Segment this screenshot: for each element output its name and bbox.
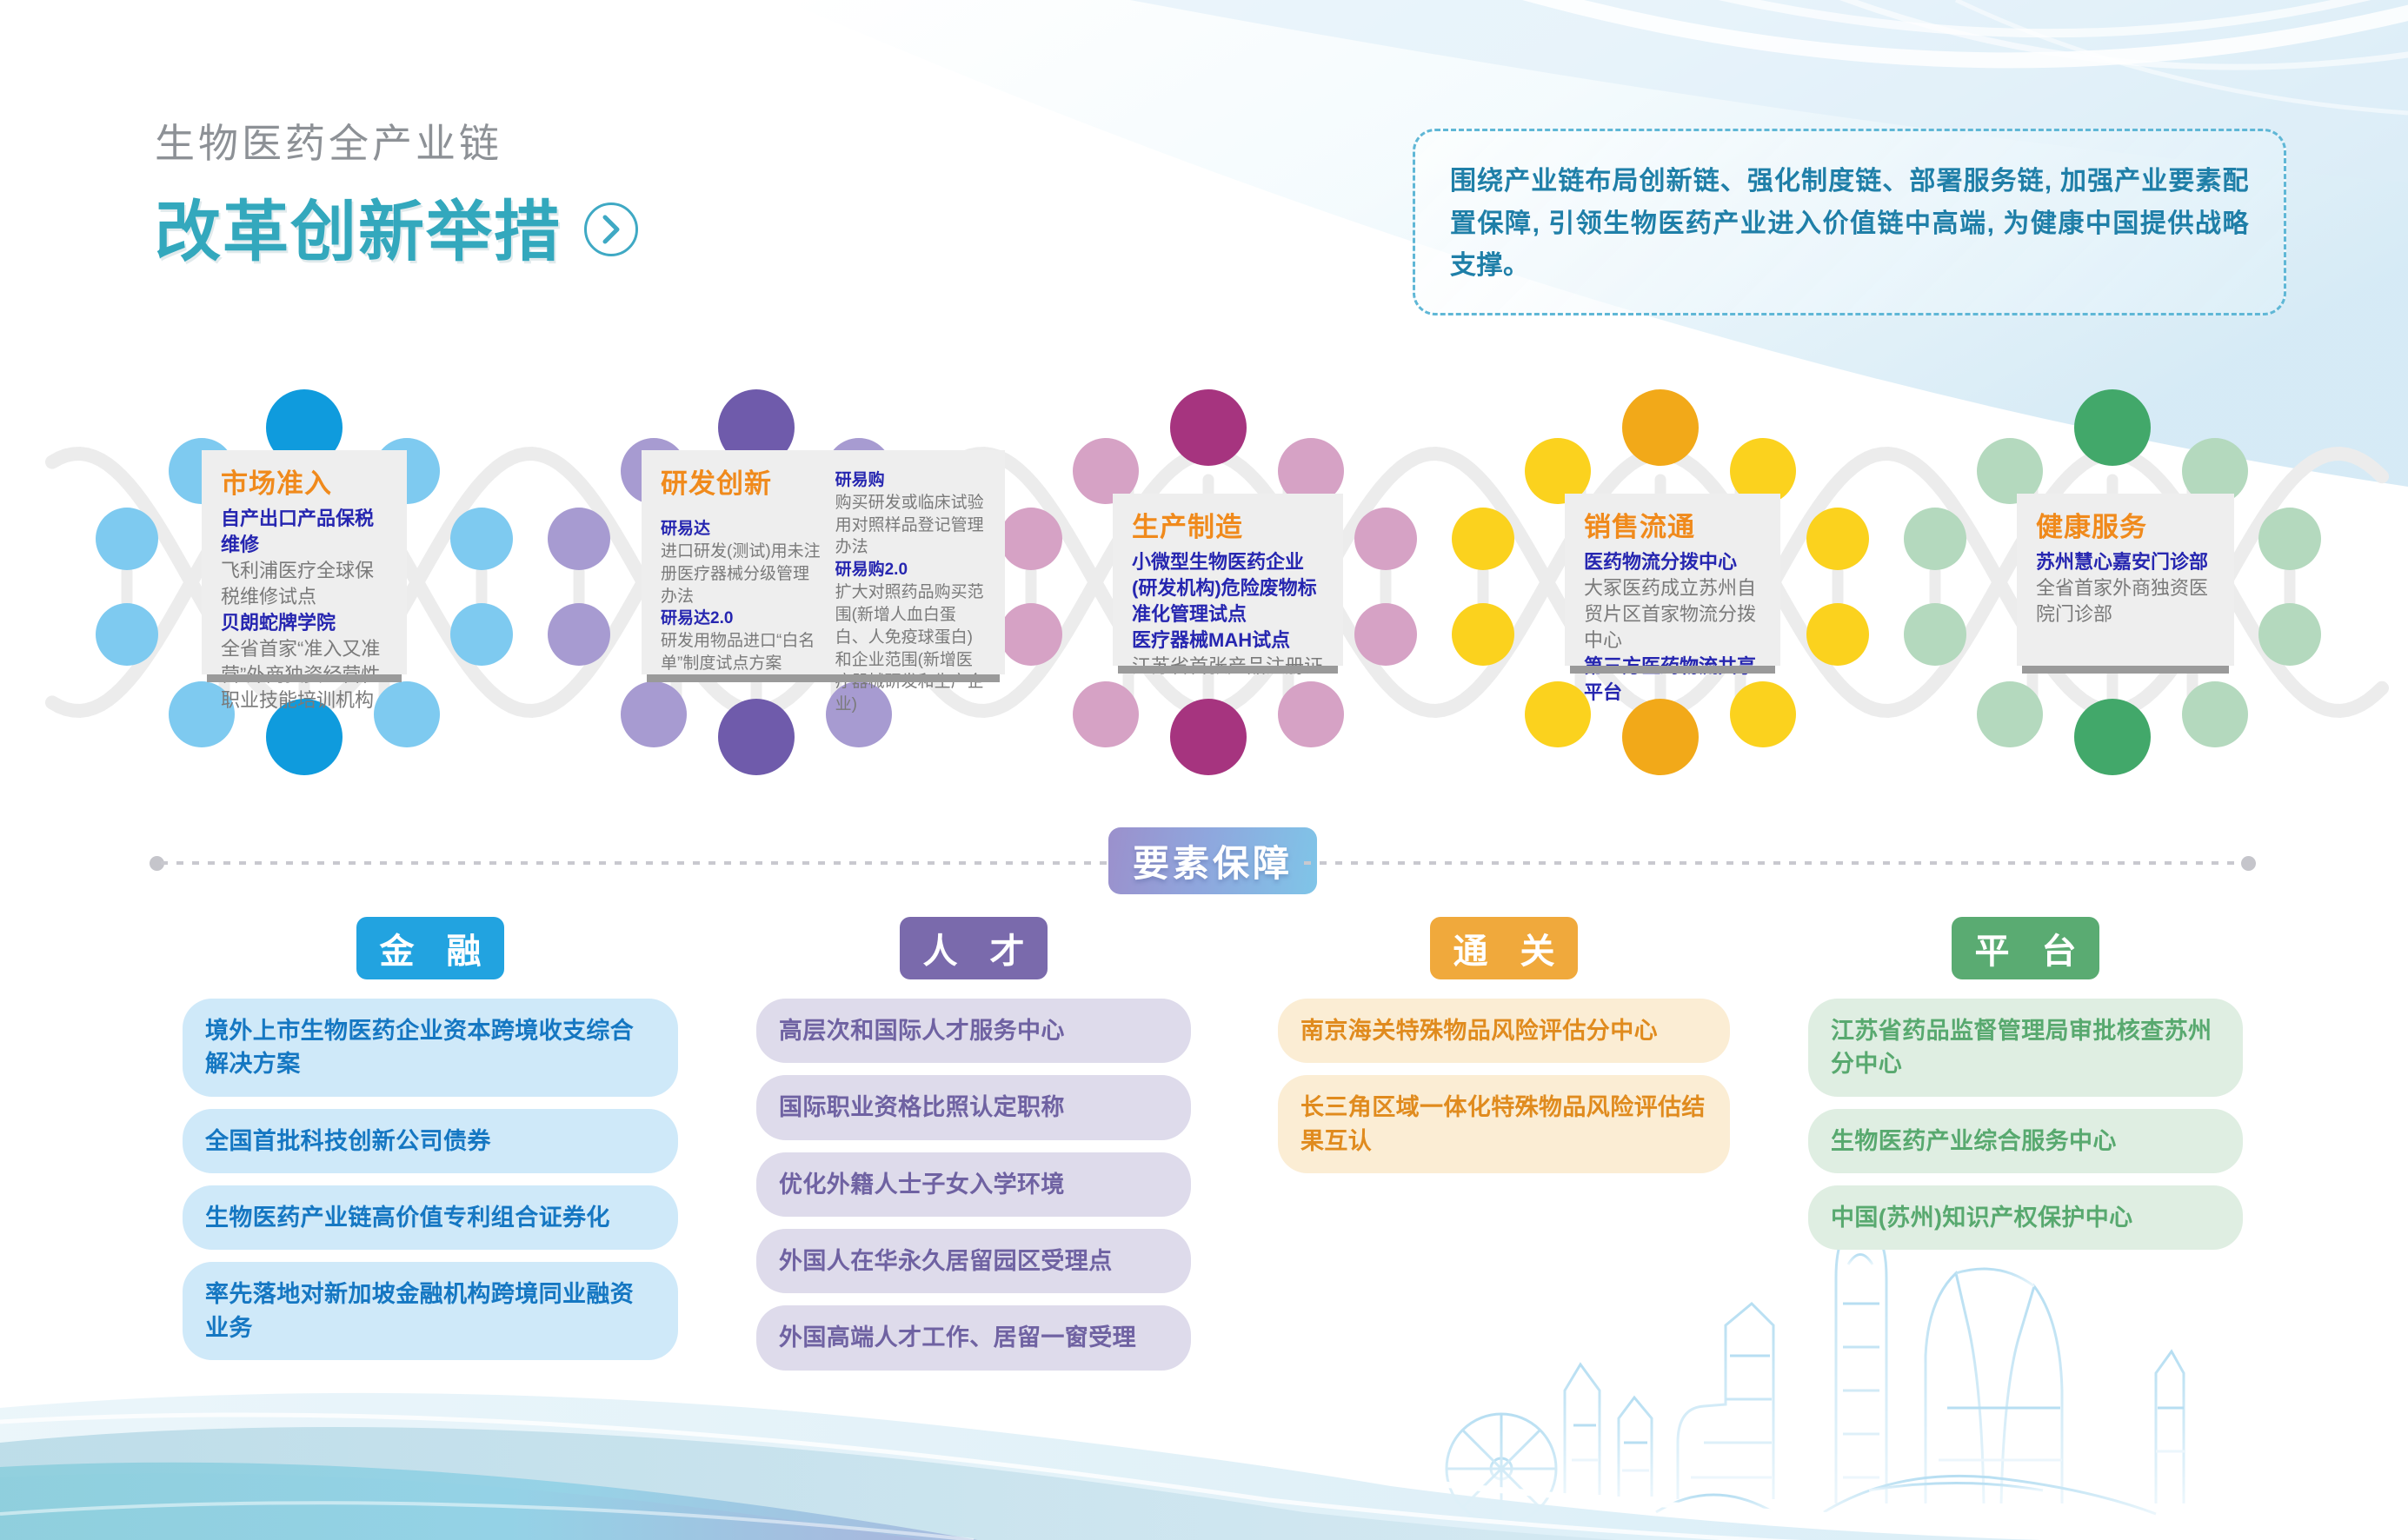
- list-item[interactable]: 境外上市生物医药企业资本跨境收支综合解决方案: [183, 999, 678, 1097]
- card-note-1: 全省首家外商独资医院门诊部: [2036, 575, 2217, 627]
- card-bold-2: 贝朗蛇牌学院: [221, 610, 389, 636]
- support-column-platform: 平 台 江苏省药品监督管理局审批核查苏州分中心 生物医药产业综合服务中心 中国(…: [1808, 917, 2243, 1262]
- chain-card-rd-innovation[interactable]: 研发创新 研易达 进口研发(测试)用未注册医疗器械分级管理办法 研易达2.0 研…: [642, 450, 1005, 674]
- list-item[interactable]: 全国首批科技创新公司债券: [183, 1109, 678, 1173]
- page-header: 生物医药全产业链 改革创新举措: [155, 122, 638, 274]
- card-title: 健康服务: [2036, 513, 2217, 542]
- chevron-right-icon[interactable]: [584, 202, 638, 256]
- card-bold-2: 研易达2.0: [661, 607, 822, 630]
- support-column-talent: 人 才 高层次和国际人才服务中心 国际职业资格比照认定职称 优化外籍人士子女入学…: [756, 917, 1191, 1383]
- card-note-1: 进口研发(测试)用未注册医疗器械分级管理办法: [661, 541, 822, 607]
- intro-callout: 围绕产业链布局创新链、强化制度链、部署服务链, 加强产业要素配置保障, 引领生物…: [1413, 129, 2286, 315]
- column-label: 金 融: [368, 923, 492, 973]
- column-label: 平 台: [1963, 923, 2087, 973]
- list-item[interactable]: 中国(苏州)知识产权保护中心: [1808, 1185, 2243, 1250]
- list-item[interactable]: 优化外籍人士子女入学环境: [756, 1152, 1191, 1217]
- support-column-customs: 通 关 南京海关特殊物品风险评估分中心 长三角区域一体化特殊物品风险评估结果互认: [1278, 917, 1730, 1185]
- card-base-bar: [1118, 666, 1338, 674]
- card-title: 研发创新: [661, 469, 822, 499]
- card-note-1: 飞利浦医疗全球保税维修试点: [221, 558, 389, 610]
- chain-card-distribution[interactable]: 销售流通 医药物流分拨中心 大冢医药成立苏州自贸片区首家物流分拨中心 第三方医药…: [1565, 494, 1780, 666]
- chain-card-market-access[interactable]: 市场准入 自产出口产品保税维修 飞利浦医疗全球保税维修试点 贝朗蛇牌学院 全省首…: [202, 450, 407, 674]
- list-item[interactable]: 江苏省药品监督管理局审批核查苏州分中心: [1808, 999, 2243, 1097]
- card-bold-1: 苏州慧心嘉安门诊部: [2036, 549, 2217, 575]
- support-column-finance: 金 融 境外上市生物医药企业资本跨境收支综合解决方案 全国首批科技创新公司债券 …: [183, 917, 678, 1372]
- card-base-bar: [1570, 666, 1775, 674]
- column-label: 通 关: [1441, 923, 1566, 973]
- card-note-2: 研发用物品进口“白名单”制度试点方案: [661, 630, 822, 675]
- card-base-bar: [647, 674, 1000, 682]
- banner-dotted-line-right: [1304, 861, 2252, 865]
- column-cap-talent: 人 才: [900, 917, 1048, 979]
- list-item[interactable]: 高层次和国际人才服务中心: [756, 999, 1191, 1063]
- card-bold-1: 小微型生物医药企业(研发机构)危险废物标准化管理试点: [1132, 549, 1326, 627]
- column-cap-customs: 通 关: [1430, 917, 1578, 979]
- column-cap-finance: 金 融: [356, 917, 504, 979]
- card-title: 销售流通: [1584, 513, 1763, 542]
- card-bold-1: 医药物流分拨中心: [1584, 549, 1763, 575]
- card-bold-2: 第三方医药物流共享平台: [1584, 654, 1763, 706]
- card-bold-2: 医疗器械MAH试点: [1132, 627, 1326, 654]
- intro-text: 围绕产业链布局创新链、强化制度链、部署服务链, 加强产业要素配置保障, 引领生物…: [1450, 161, 2249, 288]
- card-bold-4: 研易购2.0: [835, 559, 988, 581]
- chain-card-manufacturing[interactable]: 生产制造 小微型生物医药企业(研发机构)危险废物标准化管理试点 医疗器械MAH试…: [1113, 494, 1343, 666]
- list-item[interactable]: 外国人在华永久居留园区受理点: [756, 1229, 1191, 1293]
- list-item[interactable]: 生物医药产业链高价值专利组合证券化: [183, 1185, 678, 1250]
- list-item[interactable]: 国际职业资格比照认定职称: [756, 1075, 1191, 1139]
- list-item[interactable]: 长三角区域一体化特殊物品风险评估结果互认: [1278, 1075, 1730, 1173]
- column-cap-platform: 平 台: [1952, 917, 2099, 979]
- list-item[interactable]: 外国高端人才工作、居留一窗受理: [756, 1305, 1191, 1370]
- page-title: 改革创新举措: [155, 178, 562, 274]
- card-note-4: 扩大对照药品购买范围(新增人血白蛋白、人免疫球蛋白)和企业范围(新增医疗器械研发…: [835, 581, 988, 716]
- section-banner: 要素保障: [1108, 827, 1317, 894]
- list-item[interactable]: 生物医药产业综合服务中心: [1808, 1109, 2243, 1173]
- list-item[interactable]: 南京海关特殊物品风险评估分中心: [1278, 999, 1730, 1063]
- card-note-3: 购买研发或临床试验用对照样品登记管理办法: [835, 492, 988, 559]
- column-label: 人 才: [911, 923, 1035, 973]
- banner-dotted-line-left: [161, 861, 1108, 865]
- banner-end-dot-right: [2241, 856, 2256, 871]
- infographic-poster: 生物医药全产业链 改革创新举措 围绕产业链布局创新链、强化制度链、部署服务链, …: [0, 0, 2408, 1540]
- card-bold-1: 研易达: [661, 518, 822, 541]
- card-title: 生产制造: [1132, 513, 1326, 542]
- card-base-bar: [2022, 666, 2229, 674]
- list-item[interactable]: 率先落地对新加坡金融机构跨境同业融资业务: [183, 1262, 678, 1360]
- card-base-bar: [207, 674, 402, 682]
- section-banner-label: 要素保障: [1133, 834, 1293, 887]
- card-bold-1: 自产出口产品保税维修: [221, 506, 389, 558]
- card-note-1: 大冢医药成立苏州自贸片区首家物流分拨中心: [1584, 575, 1763, 654]
- chain-cards-layer: 市场准入 自产出口产品保税维修 飞利浦医疗全球保税维修试点 贝朗蛇牌学院 全省首…: [0, 330, 2408, 834]
- header-kicker: 生物医药全产业链: [155, 122, 638, 166]
- card-bold-3: 研易购: [835, 469, 988, 492]
- card-title: 市场准入: [221, 469, 389, 499]
- support-banner-row: 要素保障: [0, 827, 2408, 897]
- chain-card-health-service[interactable]: 健康服务 苏州慧心嘉安门诊部 全省首家外商独资医院门诊部: [2017, 494, 2234, 666]
